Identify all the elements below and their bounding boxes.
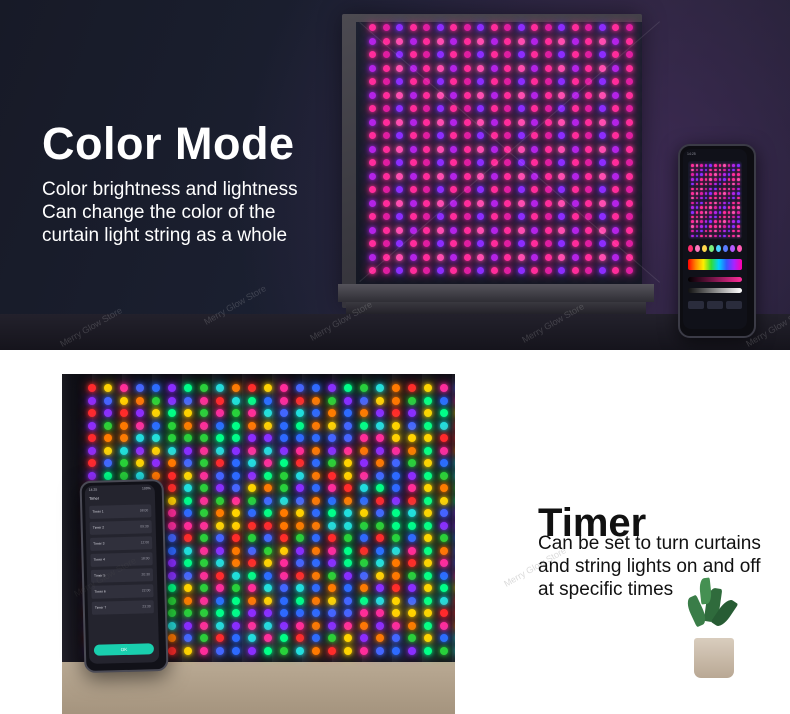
led-dot	[376, 534, 384, 542]
led-preview-dot	[728, 173, 731, 176]
led-dot	[216, 597, 224, 605]
led-preview-dot	[714, 169, 717, 172]
led-dot	[464, 92, 471, 99]
led-dot	[184, 409, 192, 417]
led-dot	[280, 572, 288, 580]
led-dot	[626, 173, 633, 180]
led-dot	[491, 213, 498, 220]
led-dot	[626, 65, 633, 72]
led-dot	[423, 38, 430, 45]
led-dot	[136, 472, 144, 480]
led-dot	[369, 146, 376, 153]
led-preview-dot	[691, 164, 694, 167]
led-dot	[518, 65, 525, 72]
led-preview-dot	[719, 220, 722, 223]
led-dot	[626, 105, 633, 112]
led-preview-dot	[728, 225, 731, 228]
color-swatch[interactable]	[716, 245, 721, 252]
led-dot	[410, 267, 417, 274]
led-preview-dot	[714, 211, 717, 214]
led-preview-dot	[700, 183, 703, 186]
led-dot	[626, 51, 633, 58]
led-dot	[424, 509, 432, 517]
led-preview-dot	[719, 211, 722, 214]
led-dot	[585, 267, 592, 274]
led-dot	[383, 186, 390, 193]
led-dot	[369, 227, 376, 234]
led-dot	[360, 547, 368, 555]
led-dot	[464, 51, 471, 58]
led-dot	[558, 186, 565, 193]
led-preview-dot	[737, 192, 740, 195]
led-dot	[572, 105, 579, 112]
led-dot	[168, 484, 176, 492]
led-dot	[216, 584, 224, 592]
led-preview-dot	[714, 202, 717, 205]
led-preview-dot	[723, 178, 726, 181]
led-dot	[248, 597, 256, 605]
led-preview-dot	[723, 164, 726, 167]
led-dot	[392, 609, 400, 617]
led-preview-dot	[696, 235, 699, 238]
led-dot	[464, 227, 471, 234]
led-dot	[216, 484, 224, 492]
led-preview-dot	[732, 206, 735, 209]
color-swatch[interactable]	[737, 245, 742, 252]
led-dot	[612, 65, 619, 72]
led-dot	[264, 534, 272, 542]
led-dot	[518, 267, 525, 274]
led-dot	[264, 522, 272, 530]
led-dot	[104, 459, 112, 467]
led-preview-dot	[728, 230, 731, 233]
color-swatch[interactable]	[688, 245, 693, 252]
led-preview-dot	[719, 173, 722, 176]
led-preview-dot	[719, 206, 722, 209]
description-line: and string lights on and off	[538, 555, 788, 578]
led-dot	[599, 78, 606, 85]
led-dot	[545, 240, 552, 247]
led-dot	[280, 472, 288, 480]
led-dot	[184, 422, 192, 430]
led-dot	[504, 159, 511, 166]
led-dot	[410, 105, 417, 112]
led-dot	[504, 254, 511, 261]
led-dot	[545, 24, 552, 31]
brightness-slider[interactable]	[688, 288, 742, 293]
led-dot	[392, 397, 400, 405]
color-swatch[interactable]	[702, 245, 707, 252]
led-preview-dot	[709, 173, 712, 176]
phone-mockup-timer[interactable]: 14:25 100% Timer Timer 108:00Timer 209:3…	[80, 479, 169, 673]
led-dot	[464, 24, 471, 31]
timer-row[interactable]: Timer 108:00	[89, 504, 151, 519]
led-dot	[450, 132, 457, 139]
led-dot	[280, 622, 288, 630]
led-dot	[477, 159, 484, 166]
led-dot	[504, 213, 511, 220]
led-dot	[168, 634, 176, 642]
led-dot	[410, 132, 417, 139]
led-preview-dot	[723, 216, 726, 219]
led-dot	[572, 213, 579, 220]
led-dot	[585, 254, 592, 261]
ok-button[interactable]: OK	[94, 643, 154, 656]
led-dot	[392, 497, 400, 505]
led-dot	[344, 472, 352, 480]
timer-row[interactable]: Timer 209:30	[90, 520, 152, 535]
led-dot	[392, 434, 400, 442]
led-preview-dot	[696, 164, 699, 167]
led-preview-dot	[705, 178, 708, 181]
led-dot	[344, 422, 352, 430]
led-dot	[344, 384, 352, 392]
led-dot	[572, 240, 579, 247]
led-dot	[184, 559, 192, 567]
timer-row[interactable]: Timer 723:30	[92, 600, 154, 615]
led-dot	[464, 267, 471, 274]
led-dot	[440, 647, 448, 655]
led-dot	[424, 434, 432, 442]
led-dot	[585, 51, 592, 58]
led-dot	[280, 609, 288, 617]
led-dot	[248, 622, 256, 630]
led-preview-dot	[691, 192, 694, 195]
led-dot	[280, 409, 288, 417]
led-dot	[152, 422, 160, 430]
led-dot	[464, 78, 471, 85]
led-dot	[200, 547, 208, 555]
led-dot	[280, 584, 288, 592]
led-dot	[136, 384, 144, 392]
led-preview-dot	[700, 173, 703, 176]
led-preview-dot	[709, 164, 712, 167]
led-dot	[531, 254, 538, 261]
led-dot	[491, 200, 498, 207]
phone-screen-color-mode[interactable]: 14:25	[683, 149, 747, 329]
led-dot	[136, 447, 144, 455]
led-dot	[312, 597, 320, 605]
phone-screen-timer[interactable]: 14:25 100% Timer Timer 108:00Timer 209:3…	[85, 484, 160, 664]
led-dot	[437, 267, 444, 274]
led-dot	[296, 409, 304, 417]
led-preview-dot	[737, 164, 740, 167]
led-dot	[518, 78, 525, 85]
led-dot	[423, 92, 430, 99]
led-dot	[396, 132, 403, 139]
mode-button[interactable]	[707, 301, 723, 309]
led-dot	[437, 186, 444, 193]
color-swatch[interactable]	[709, 245, 714, 252]
led-dot	[599, 51, 606, 58]
led-dot	[232, 397, 240, 405]
led-dot	[477, 227, 484, 234]
led-dot	[585, 105, 592, 112]
led-dot	[504, 51, 511, 58]
led-dot	[328, 397, 336, 405]
led-dot	[464, 173, 471, 180]
led-dot	[296, 559, 304, 567]
led-dot	[280, 559, 288, 567]
led-dot	[200, 447, 208, 455]
led-dot	[184, 509, 192, 517]
led-dot	[280, 597, 288, 605]
led-dot	[360, 397, 368, 405]
mode-button[interactable]	[726, 301, 742, 309]
led-dot	[344, 597, 352, 605]
led-preview-dot	[696, 225, 699, 228]
led-dot	[200, 559, 208, 567]
led-dot	[184, 484, 192, 492]
phone-mode-buttons[interactable]	[688, 301, 742, 309]
led-dot	[410, 240, 417, 247]
led-preview-dot	[728, 211, 731, 214]
led-dot	[424, 497, 432, 505]
led-dot	[88, 447, 96, 455]
led-preview-dot	[737, 225, 740, 228]
led-dot	[531, 200, 538, 207]
led-dot	[585, 38, 592, 45]
led-dot	[531, 24, 538, 31]
led-dot	[558, 213, 565, 220]
led-dot	[168, 547, 176, 555]
color-picker-gradient[interactable]	[688, 259, 742, 270]
led-dot	[612, 24, 619, 31]
led-preview-dot	[719, 169, 722, 172]
led-dot	[312, 472, 320, 480]
led-dot	[184, 584, 192, 592]
led-dot	[344, 509, 352, 517]
led-dot	[376, 647, 384, 655]
led-dot	[464, 105, 471, 112]
led-preview-dot	[700, 220, 703, 223]
led-dot	[585, 227, 592, 234]
led-dot	[376, 634, 384, 642]
led-dot	[383, 240, 390, 247]
led-preview-dot	[728, 216, 731, 219]
led-dot	[360, 472, 368, 480]
led-dot	[464, 65, 471, 72]
led-preview-dot	[709, 188, 712, 191]
led-dot	[626, 92, 633, 99]
led-preview-dot	[691, 197, 694, 200]
timer-row[interactable]: Timer 312:00	[90, 536, 152, 551]
led-dot	[296, 509, 304, 517]
led-dot	[440, 634, 448, 642]
led-dot	[232, 622, 240, 630]
led-dot	[626, 213, 633, 220]
mode-button[interactable]	[688, 301, 704, 309]
panel-color-mode: Color Mode Color brightness and lightnes…	[0, 0, 790, 350]
led-dot	[248, 584, 256, 592]
led-preview-dot	[728, 178, 731, 181]
led-dot	[612, 213, 619, 220]
led-dot	[200, 572, 208, 580]
led-dot	[216, 647, 224, 655]
led-preview-dot	[728, 183, 731, 186]
led-dot	[408, 647, 416, 655]
led-dot	[518, 213, 525, 220]
description-line: Color brightness and lightness	[42, 178, 298, 201]
color-swatch[interactable]	[723, 245, 728, 252]
led-dot	[408, 597, 416, 605]
led-dot	[296, 597, 304, 605]
led-dot	[504, 200, 511, 207]
led-dot	[424, 397, 432, 405]
led-dot	[626, 186, 633, 193]
led-dot	[312, 397, 320, 405]
led-curtain-grid-pink	[369, 24, 637, 282]
led-dot	[216, 547, 224, 555]
led-dot	[328, 647, 336, 655]
led-dot	[545, 213, 552, 220]
timer-row[interactable]: Timer 520:30	[91, 568, 153, 583]
led-dot	[558, 240, 565, 247]
led-preview-dot	[728, 188, 731, 191]
led-dot	[248, 384, 256, 392]
led-dot	[440, 522, 448, 530]
led-dot	[360, 409, 368, 417]
led-preview-dot	[696, 220, 699, 223]
led-preview-dot	[737, 220, 740, 223]
page-title-color-mode: Color Mode	[42, 118, 294, 170]
led-dot	[423, 213, 430, 220]
led-dot	[423, 240, 430, 247]
led-dot	[440, 584, 448, 592]
led-dot	[360, 534, 368, 542]
led-dot	[423, 254, 430, 261]
led-dot	[423, 146, 430, 153]
led-dot	[168, 559, 176, 567]
led-dot	[450, 267, 457, 274]
led-preview-dot	[705, 183, 708, 186]
led-dot	[450, 78, 457, 85]
led-preview-dot	[723, 225, 726, 228]
led-dot	[558, 38, 565, 45]
led-dot	[248, 397, 256, 405]
led-dot	[360, 559, 368, 567]
led-dot	[392, 472, 400, 480]
led-dot	[360, 497, 368, 505]
led-dot	[504, 38, 511, 45]
led-dot	[168, 397, 176, 405]
led-dot	[264, 447, 272, 455]
led-dot	[585, 65, 592, 72]
led-dot	[464, 146, 471, 153]
led-dot	[396, 38, 403, 45]
led-dot	[491, 24, 498, 31]
led-preview-dot	[737, 188, 740, 191]
led-dot	[423, 159, 430, 166]
led-dot	[232, 634, 240, 642]
led-dot	[376, 384, 384, 392]
led-dot	[599, 105, 606, 112]
led-preview-dot	[719, 197, 722, 200]
color-swatch[interactable]	[730, 245, 735, 252]
led-dot	[376, 409, 384, 417]
led-dot	[184, 534, 192, 542]
led-preview-dot	[732, 220, 735, 223]
led-dot	[328, 534, 336, 542]
led-dot	[545, 51, 552, 58]
color-swatch[interactable]	[695, 245, 700, 252]
led-dot	[491, 92, 498, 99]
led-preview-dot	[737, 206, 740, 209]
timer-screen-title: Timer	[85, 493, 155, 503]
led-dot	[545, 132, 552, 139]
led-dot	[264, 559, 272, 567]
led-preview-dot	[737, 178, 740, 181]
led-dot	[376, 422, 384, 430]
led-dot	[599, 92, 606, 99]
led-dot	[376, 497, 384, 505]
timer-row[interactable]: Timer 418:00	[90, 552, 152, 567]
saturation-slider[interactable]	[688, 277, 742, 282]
led-dot	[248, 547, 256, 555]
led-dot	[545, 200, 552, 207]
led-dot	[572, 267, 579, 274]
led-dot	[491, 146, 498, 153]
led-dot	[518, 105, 525, 112]
timer-row[interactable]: Timer 622:00	[91, 584, 153, 599]
color-swatch-row[interactable]	[688, 245, 742, 254]
led-dot	[328, 459, 336, 467]
timer-row-list[interactable]: Timer 108:00Timer 209:30Timer 312:00Time…	[89, 504, 154, 618]
led-dot	[376, 397, 384, 405]
led-dot	[392, 447, 400, 455]
phone-mockup-color-mode[interactable]: 14:25	[678, 144, 756, 338]
led-dot	[423, 186, 430, 193]
led-dot	[312, 584, 320, 592]
led-dot	[440, 434, 448, 442]
led-dot	[518, 173, 525, 180]
led-dot	[599, 213, 606, 220]
led-dot	[216, 384, 224, 392]
led-dot	[518, 227, 525, 234]
led-dot	[328, 622, 336, 630]
led-dot	[572, 119, 579, 126]
led-dot	[558, 146, 565, 153]
led-dot	[531, 227, 538, 234]
led-dot	[184, 522, 192, 530]
led-preview-dot	[705, 169, 708, 172]
led-dot	[585, 24, 592, 31]
led-dot	[424, 584, 432, 592]
led-dot	[518, 200, 525, 207]
timer-row-value: 22:00	[142, 588, 151, 592]
led-dot	[518, 92, 525, 99]
led-dot	[545, 146, 552, 153]
led-dot	[392, 384, 400, 392]
led-dot	[410, 38, 417, 45]
led-dot	[264, 609, 272, 617]
led-dot	[450, 24, 457, 31]
led-dot	[504, 186, 511, 193]
led-preview-dot	[714, 173, 717, 176]
led-preview-dot	[728, 220, 731, 223]
led-dot	[585, 200, 592, 207]
led-dot	[585, 146, 592, 153]
led-dot	[450, 159, 457, 166]
led-dot	[344, 522, 352, 530]
led-dot	[437, 227, 444, 234]
led-dot	[599, 240, 606, 247]
led-dot	[168, 609, 176, 617]
led-dot	[450, 227, 457, 234]
led-dot	[328, 634, 336, 642]
led-dot	[477, 38, 484, 45]
led-dot	[200, 622, 208, 630]
